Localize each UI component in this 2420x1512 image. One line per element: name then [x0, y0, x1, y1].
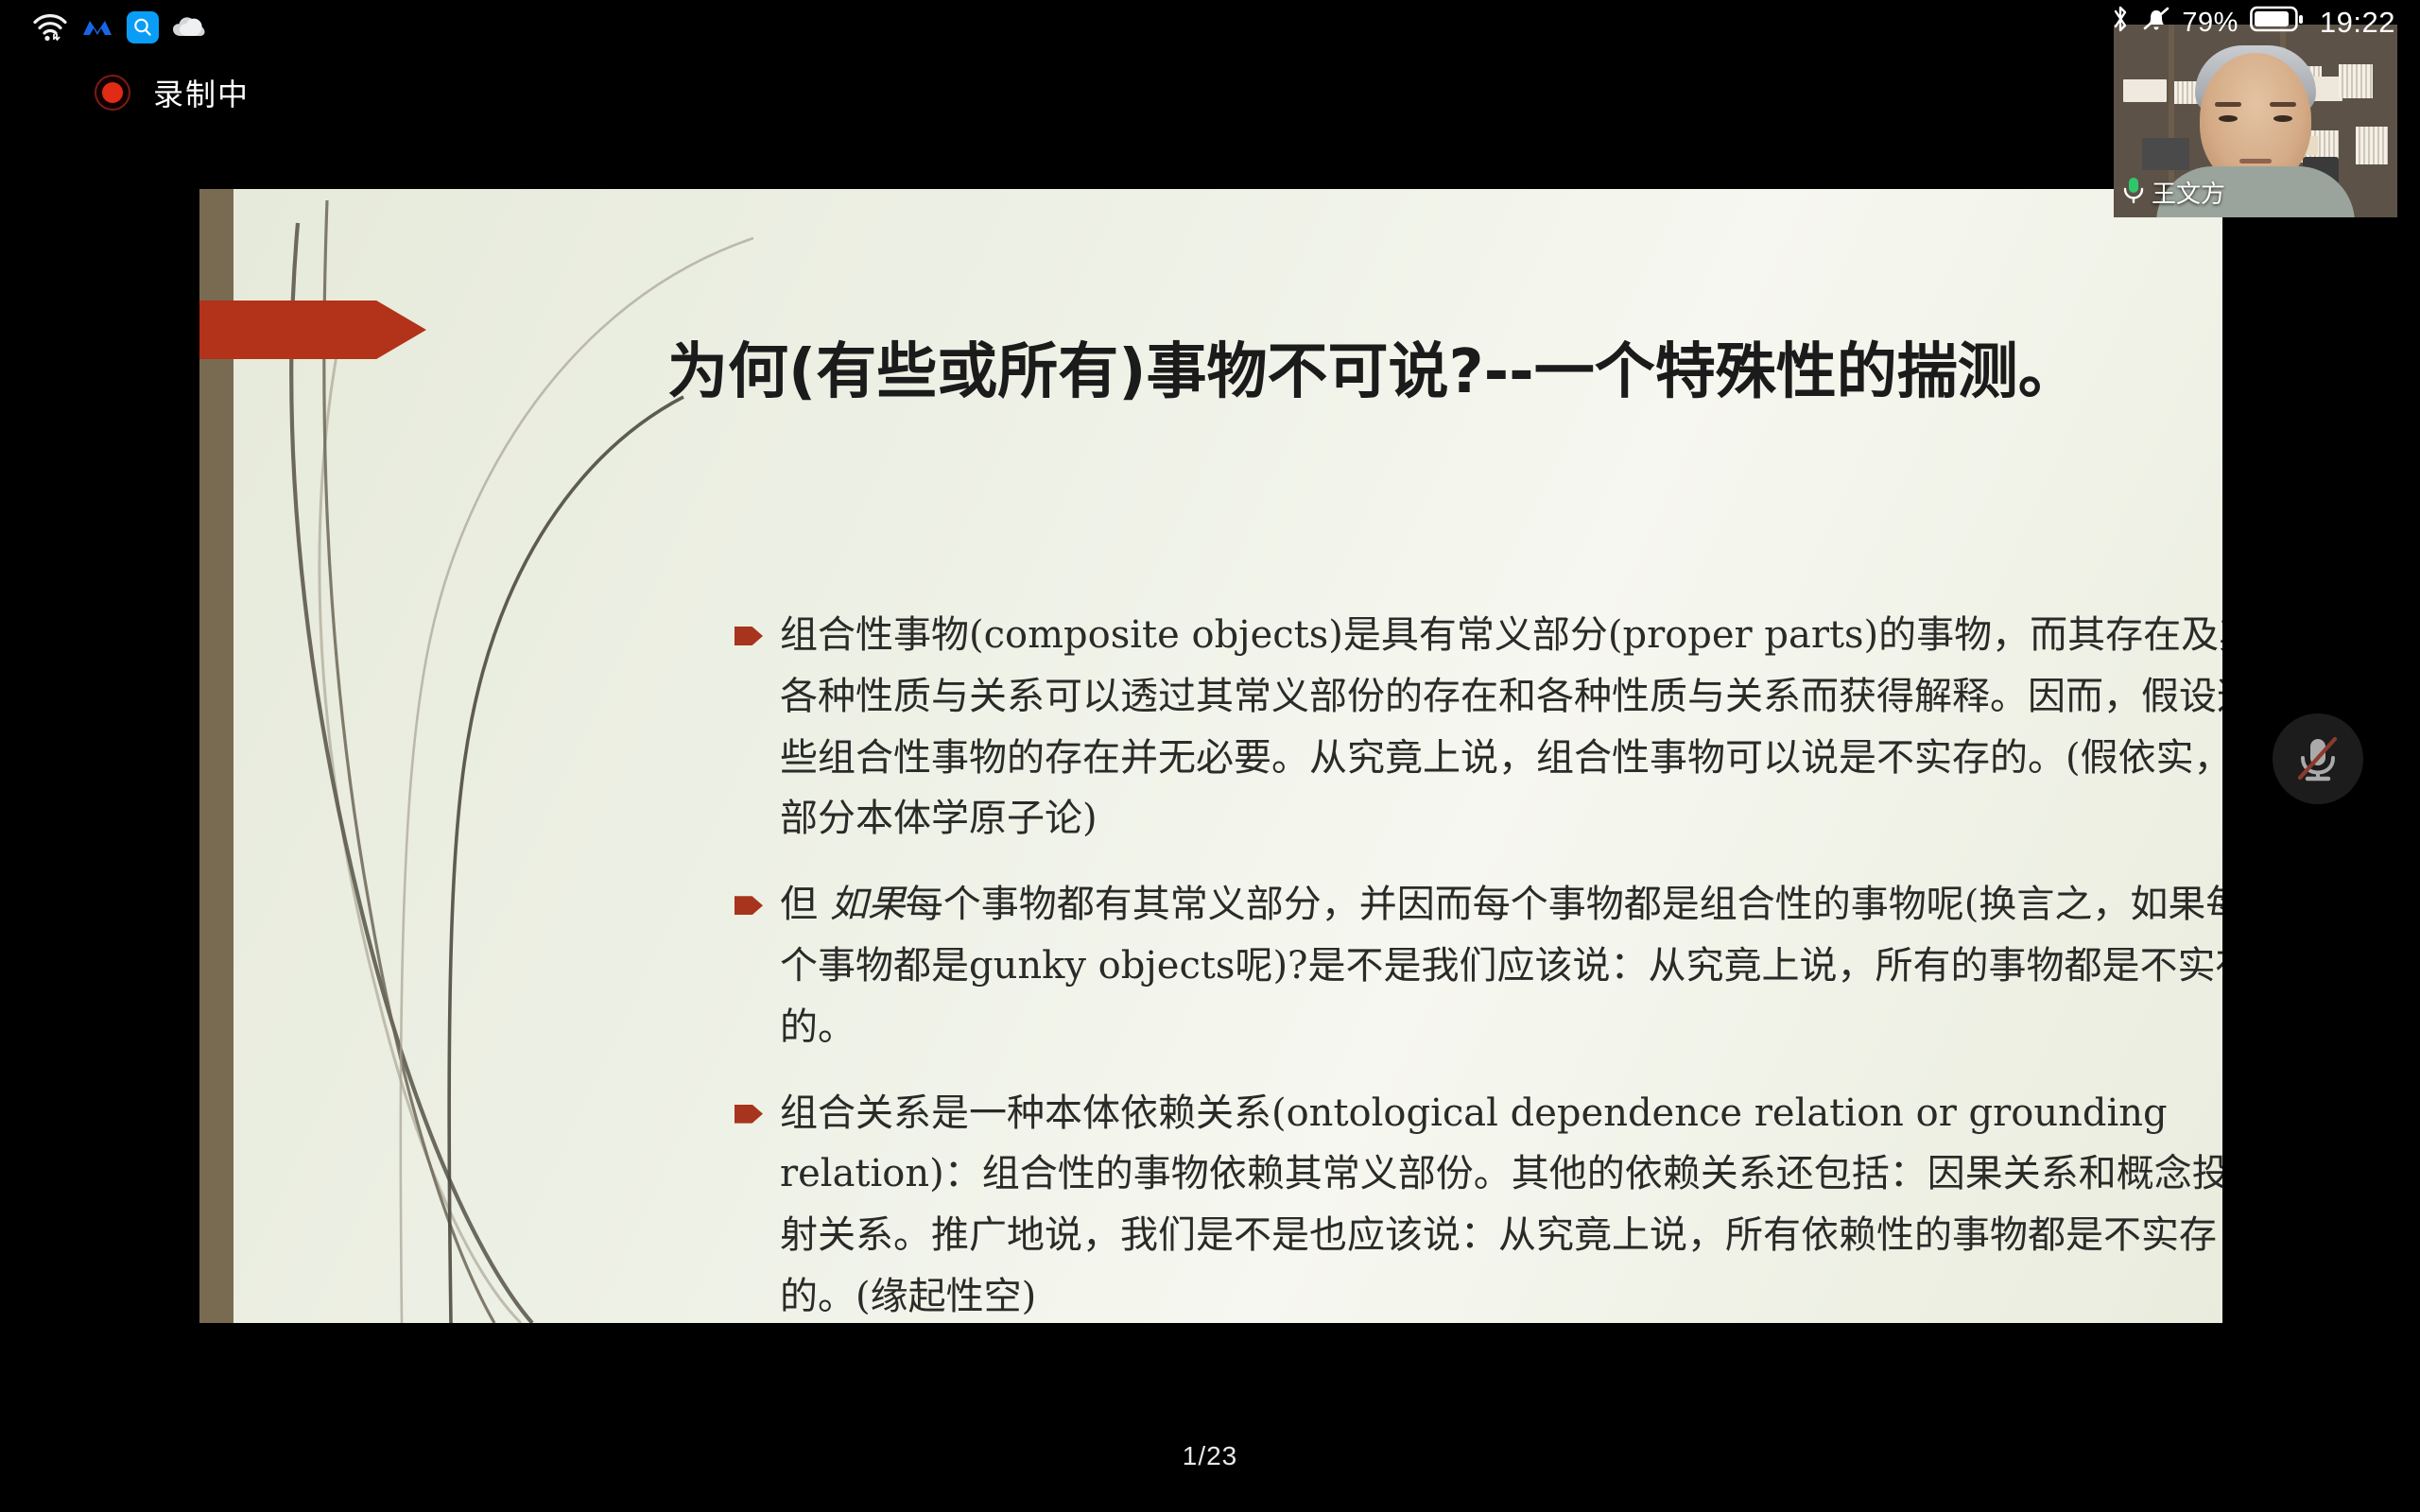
- participant-name-badge: 王文方: [2121, 175, 2225, 210]
- bullet-text: 组合关系是一种本体依赖关系(ontological dependence rel…: [780, 1083, 2222, 1323]
- shelf-books: [2123, 79, 2167, 102]
- bullet-arrow-icon: [735, 1105, 763, 1124]
- record-dot-icon[interactable]: [95, 75, 130, 111]
- bluetooth-icon: [2110, 3, 2131, 43]
- search-icon[interactable]: [127, 11, 159, 43]
- cloud-icon: [172, 15, 206, 40]
- slide-left-band: [199, 189, 233, 1323]
- bullet-arrow-icon: [735, 627, 763, 645]
- meitu-app-icon[interactable]: [81, 16, 113, 39]
- microphone-active-icon: [2121, 175, 2146, 210]
- title-arrow-decoration: [199, 301, 426, 359]
- microphone-muted-button[interactable]: [2273, 713, 2363, 804]
- slide-title: 为何(有些或所有)事物不可说?--一个特殊性的揣测。: [667, 338, 2095, 407]
- status-bar-right: 79% 19:22: [2110, 2, 2395, 43]
- slide-bullet-list: 组合性事物(composite objects)是具有常义部分(proper p…: [735, 605, 2222, 1323]
- bullet-text: 但 如果每个事物都有其常义部分，并因而每个事物都是组合性的事物呢(换言之，如果每…: [780, 874, 2222, 1057]
- participant-video-tile[interactable]: 王文方: [2114, 25, 2397, 217]
- battery-icon: [2250, 5, 2305, 41]
- bullet-arrow-icon: [735, 896, 763, 915]
- shelf-books: [2339, 64, 2373, 98]
- emphasis-text: 如果: [830, 883, 906, 926]
- battery-percent: 79%: [2182, 8, 2238, 39]
- shelf-books: [2356, 127, 2388, 164]
- presentation-slide[interactable]: 为何(有些或所有)事物不可说?--一个特殊性的揣测。 组合性事物(composi…: [199, 189, 2222, 1323]
- status-bar-left: [32, 8, 206, 47]
- bullet-text: 组合性事物(composite objects)是具有常义部分(proper p…: [780, 605, 2222, 850]
- chair: [2142, 138, 2189, 170]
- bullet-item: 组合性事物(composite objects)是具有常义部分(proper p…: [735, 605, 2222, 850]
- participant-name: 王文方: [2152, 175, 2225, 210]
- microphone-muted-icon: [2292, 731, 2343, 786]
- clock: 19:22: [2320, 6, 2395, 40]
- bullet-item: 组合关系是一种本体依赖关系(ontological dependence rel…: [735, 1083, 2222, 1323]
- wifi-icon: [32, 13, 68, 42]
- bullet-item: 但 如果每个事物都有其常义部分，并因而每个事物都是组合性的事物呢(换言之，如果每…: [735, 874, 2222, 1057]
- bell-muted-icon: [2142, 4, 2170, 42]
- recording-indicator[interactable]: 录制中: [95, 71, 250, 114]
- recording-label: 录制中: [153, 71, 250, 114]
- page-indicator: 1/23: [0, 1441, 2420, 1471]
